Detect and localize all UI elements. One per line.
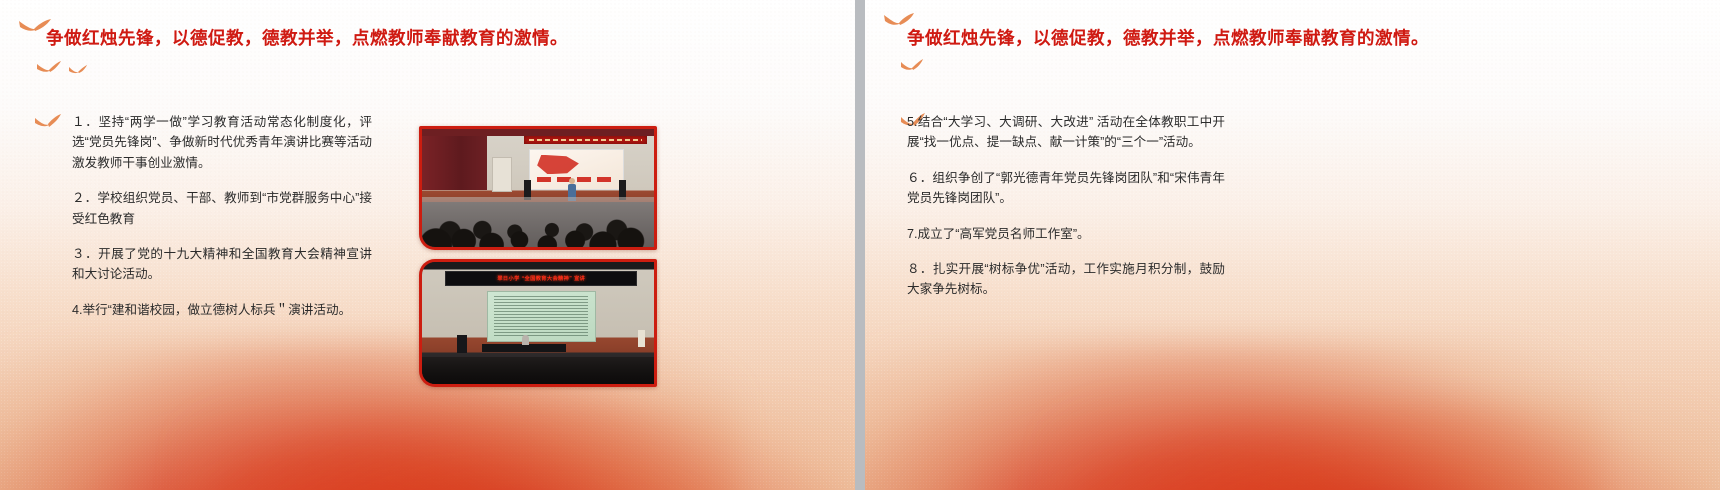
photo-auditorium-lecture[interactable] bbox=[419, 126, 657, 250]
bird-icon bbox=[900, 58, 924, 75]
projection-screen-icon bbox=[487, 291, 596, 342]
banner-icon bbox=[524, 136, 647, 144]
bird-icon bbox=[34, 113, 62, 133]
list-item: ６．组织争创了“郭光德青年党员先锋岗团队”和“宋伟青年党员先锋岗团队”。 bbox=[907, 168, 1225, 209]
red-gradient-wash-secondary bbox=[1045, 400, 1720, 490]
list-item: ２．学校组织党员、干部、教师到“市党群服务中心”接受红色教育 bbox=[72, 188, 372, 229]
projection-screen-icon bbox=[529, 149, 624, 190]
led-banner-text: 翠日小学 “全国教育大会精神” 宣讲 bbox=[497, 275, 585, 282]
photo-education-conference-lecture[interactable]: 翠日小学 “全国教育大会精神” 宣讲 bbox=[419, 259, 657, 387]
red-gradient-wash-secondary bbox=[180, 400, 855, 490]
content-list: 5.结合“大学习、大调研、大改进” 活动在全体教职工中开展“找一优点、提一缺点、… bbox=[907, 112, 1225, 300]
bird-icon bbox=[68, 64, 88, 78]
list-item: 5.结合“大学习、大调研、大改进” 活动在全体教职工中开展“找一优点、提一缺点、… bbox=[907, 112, 1225, 153]
slide-2[interactable]: 争做红烛先锋，以德促教，德教并举，点燃教师奉献教育的激情。 5.结合“大学习、大… bbox=[865, 0, 1720, 490]
photo-content: 翠日小学 “全国教育大会精神” 宣讲 bbox=[422, 262, 654, 384]
photo-content bbox=[422, 129, 654, 247]
page-title: 争做红烛先锋，以德促教，德教并举，点燃教师奉献教育的激情。 bbox=[907, 28, 1687, 49]
slide-1[interactable]: 争做红烛先锋，以德促教，德教并举，点燃教师奉献教育的激情。 １．坚持“两学一做”… bbox=[0, 0, 855, 490]
bird-icon bbox=[36, 60, 62, 78]
list-item: ３．开展了党的十九大精神和全国教育大会精神宣讲和大讨论活动。 bbox=[72, 244, 372, 285]
slide-deck: 争做红烛先锋，以德促教，德教并举，点燃教师奉献教育的激情。 １．坚持“两学一做”… bbox=[0, 0, 1720, 490]
audience-crowd-icon bbox=[422, 357, 654, 384]
page-title: 争做红烛先锋，以德促教，德教并举，点燃教师奉献教育的激情。 bbox=[46, 28, 826, 49]
led-banner-icon: 翠日小学 “全国教育大会精神” 宣讲 bbox=[445, 271, 637, 286]
slide-divider bbox=[855, 0, 865, 490]
list-item: 7.成立了“高军党员名师工作室”。 bbox=[907, 224, 1225, 244]
speaker-figure-icon bbox=[522, 335, 529, 345]
red-gradient-wash bbox=[865, 340, 1605, 490]
content-list: １．坚持“两学一做”学习教育活动常态化制度化，评选“党员先锋岗”、争做新时代优秀… bbox=[72, 112, 372, 320]
list-item: 4.举行“建和谐校园，做立德树人标兵＂演讲活动。 bbox=[72, 300, 372, 320]
audience-crowd-icon bbox=[422, 197, 654, 247]
list-item: １．坚持“两学一做”学习教育活动常态化制度化，评选“党员先锋岗”、争做新时代优秀… bbox=[72, 112, 372, 173]
list-item: ８．扎实开展“树标争优”活动，工作实施月积分制，鼓励大家争先树标。 bbox=[907, 259, 1225, 300]
